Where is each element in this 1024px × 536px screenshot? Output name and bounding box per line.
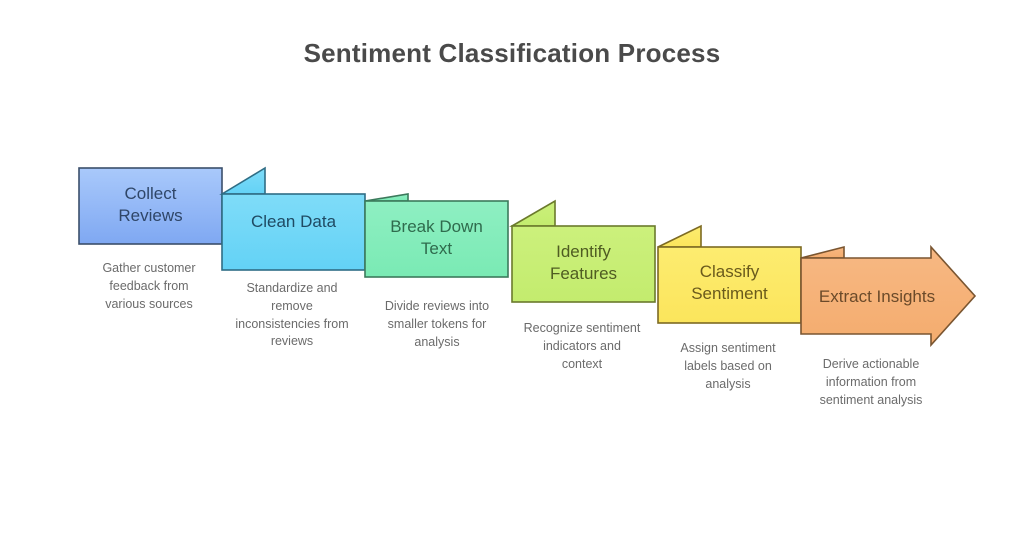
process-step-4 — [512, 201, 655, 302]
process-step-5 — [658, 226, 801, 323]
process-step-3-fold-tab — [365, 194, 408, 201]
process-step-2-fold-tab — [222, 168, 265, 194]
process-step-6-caption: Derive actionable information from senti… — [795, 356, 947, 409]
process-step-1 — [79, 168, 222, 244]
process-step-5-shape — [658, 247, 801, 323]
flow-shape-group — [79, 168, 975, 345]
process-step-2 — [222, 168, 365, 270]
process-step-6-fold-tab — [801, 247, 844, 258]
process-step-3-caption: Divide reviews into smaller tokens for a… — [361, 298, 513, 351]
process-step-3 — [365, 194, 508, 277]
process-step-3-shape — [365, 201, 508, 277]
process-step-5-fold-tab — [658, 226, 701, 247]
process-step-4-caption: Recognize sentiment indicators and conte… — [506, 320, 658, 373]
process-step-1-shape — [79, 168, 222, 244]
process-step-2-shape — [222, 194, 365, 270]
process-step-6 — [801, 247, 975, 345]
process-step-1-caption: Gather customer feedback from various so… — [74, 260, 224, 313]
process-step-6-shape — [801, 247, 975, 345]
process-step-4-fold-tab — [512, 201, 555, 226]
process-step-5-caption: Assign sentiment labels based on analysi… — [652, 340, 804, 393]
process-step-4-shape — [512, 226, 655, 302]
process-step-2-caption: Standardize and remove inconsistencies f… — [216, 280, 368, 351]
